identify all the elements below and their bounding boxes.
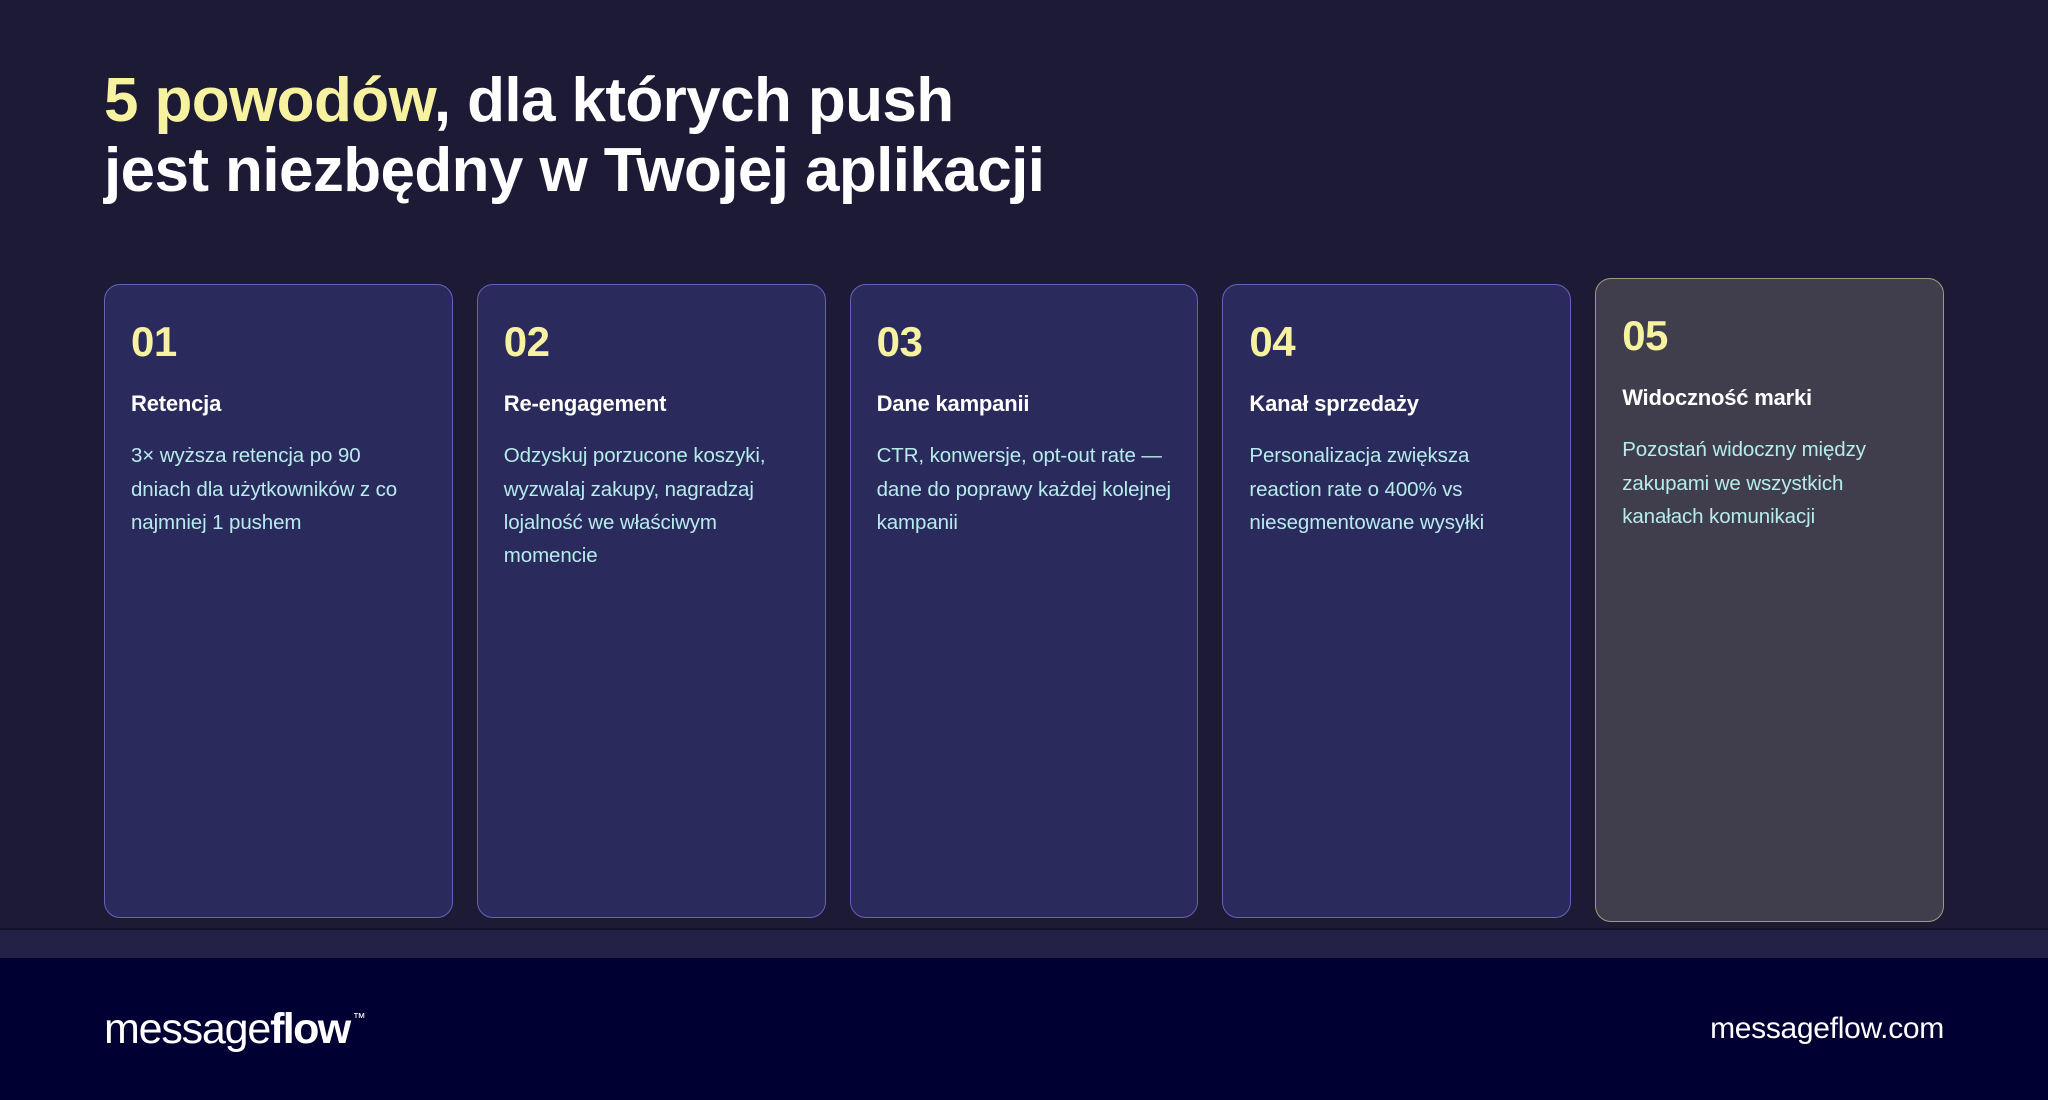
page-title: 5 powodów, dla których push jest niezbęd…	[104, 66, 1944, 206]
card-title: Widoczność marki	[1622, 385, 1917, 411]
card-body: Personalizacja zwiększa reaction rate o …	[1249, 439, 1544, 539]
card-number: 02	[504, 321, 799, 363]
card-title: Retencja	[131, 391, 426, 417]
footer-website-url: messageflow.com	[1710, 1012, 1944, 1046]
headline-accent: 5 powodów	[104, 66, 434, 135]
reason-card-01[interactable]: 01 Retencja 3× wyższa retencja po 90 dni…	[104, 284, 453, 918]
reason-card-05[interactable]: 05 Widoczność marki Pozostań widoczny mi…	[1595, 278, 1944, 922]
logo-word-flow: flow	[270, 1008, 350, 1051]
slide-root: 5 powodów, dla których push jest niezbęd…	[0, 0, 2048, 1100]
reasons-card-list: 01 Retencja 3× wyższa retencja po 90 dni…	[104, 284, 1944, 922]
headline-line-2: jest niezbędny w Twojej aplikacji	[104, 136, 1944, 206]
reason-card-03[interactable]: 03 Dane kampanii CTR, konwersje, opt-out…	[850, 284, 1199, 918]
slide-content: 5 powodów, dla których push jest niezbęd…	[0, 0, 2048, 928]
card-title: Re-engagement	[504, 391, 799, 417]
logo-word-message: message	[104, 1008, 270, 1051]
card-number: 05	[1622, 315, 1917, 357]
trademark-icon: ™	[353, 1011, 366, 1024]
footer-band	[0, 930, 2048, 958]
reason-card-04[interactable]: 04 Kanał sprzedaży Personalizacja zwięks…	[1222, 284, 1571, 918]
card-title: Kanał sprzedaży	[1249, 391, 1544, 417]
card-number: 01	[131, 321, 426, 363]
card-title: Dane kampanii	[877, 391, 1172, 417]
card-body: 3× wyższa retencja po 90 dniach dla użyt…	[131, 439, 426, 539]
card-number: 04	[1249, 321, 1544, 363]
card-body: CTR, konwersje, opt-out rate — dane do p…	[877, 439, 1172, 539]
card-body: Odzyskuj porzucone koszyki, wyzwalaj zak…	[504, 439, 799, 572]
reason-card-02[interactable]: 02 Re-engagement Odzyskuj porzucone kosz…	[477, 284, 826, 918]
headline-line-1-rest: , dla których push	[434, 66, 954, 135]
headline-line-1: 5 powodów, dla których push	[104, 66, 1944, 136]
card-number: 03	[877, 321, 1172, 363]
messageflow-logo: messageflow™	[104, 1008, 366, 1051]
slide-footer: messageflow™ messageflow.com	[0, 958, 2048, 1100]
card-body: Pozostań widoczny między zakupami we wsz…	[1622, 433, 1917, 533]
